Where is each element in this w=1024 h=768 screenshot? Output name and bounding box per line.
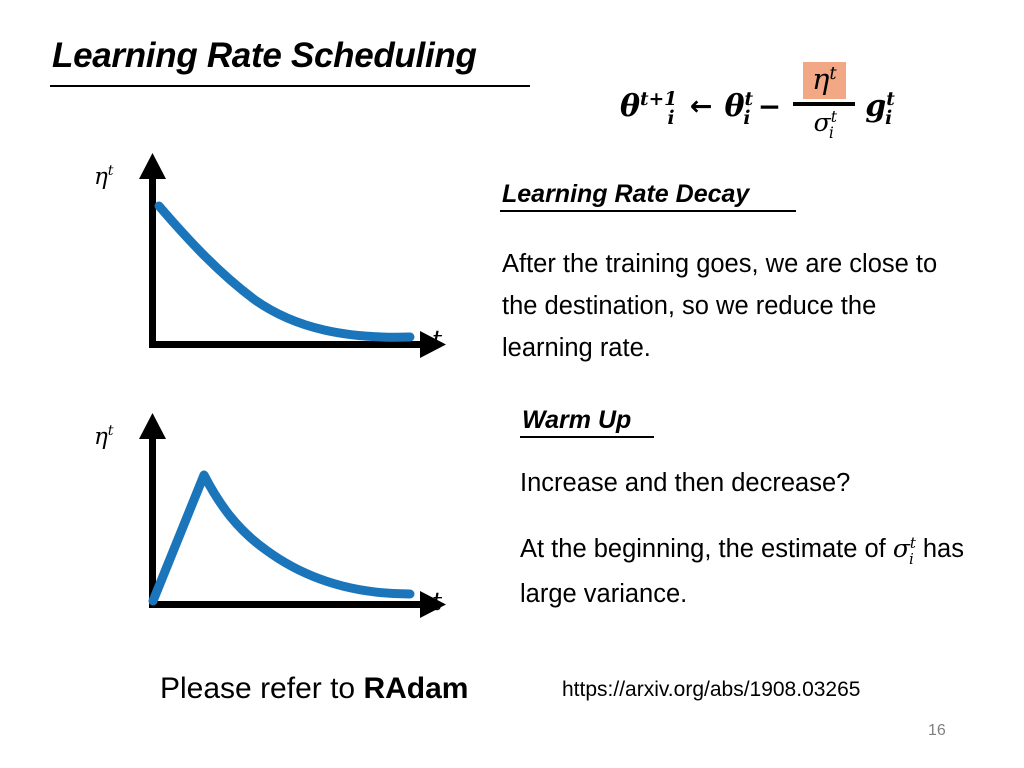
decay-y-label-superscript: t bbox=[108, 163, 114, 179]
minus-sign: − bbox=[758, 90, 781, 123]
radam-reference-text: Please refer to RAdam bbox=[160, 672, 468, 706]
update-rule-formula: θt+1i ← θti − ηt σti gti bbox=[620, 28, 1000, 143]
refer-prefix: Please refer to bbox=[160, 672, 363, 705]
formula-row: θt+1i ← θti − ηt σti gti bbox=[620, 80, 894, 133]
decay-y-label-base: η bbox=[94, 164, 108, 190]
y-axis bbox=[139, 153, 166, 346]
warmup-y-axis-label: ηt bbox=[94, 424, 114, 450]
eta-base: η bbox=[812, 62, 829, 96]
decay-curve bbox=[159, 206, 410, 337]
section-body-warm-up-variance: At the beginning, the estimate of σti ha… bbox=[520, 528, 970, 615]
left-arrow-icon: ← bbox=[690, 91, 713, 122]
page-title: Learning Rate Scheduling bbox=[52, 36, 477, 76]
gradient-subscript: i bbox=[885, 108, 892, 129]
theta-next-base: θ bbox=[620, 89, 640, 124]
theta-current-subscript: i bbox=[743, 108, 750, 129]
radam-paper-url[interactable]: https://arxiv.org/abs/1908.03265 bbox=[562, 678, 860, 702]
section-heading-warm-up: Warm Up bbox=[522, 406, 631, 435]
learning-rate-fraction: ηt σti bbox=[793, 82, 855, 135]
theta-current-base: θ bbox=[724, 89, 744, 124]
gradient-term: gti bbox=[865, 89, 893, 124]
sigma-denominator: σti bbox=[814, 108, 835, 135]
learning-rate-decay-chart: ηt t bbox=[80, 150, 480, 380]
variance-sigma-base: σ bbox=[893, 534, 910, 563]
gradient-base: g bbox=[865, 89, 886, 124]
section-heading-warmup-underline bbox=[520, 436, 654, 438]
refer-radam-name: RAdam bbox=[363, 672, 468, 705]
warmup-x-axis-label: t bbox=[432, 587, 442, 616]
warmup-y-label-base: η bbox=[94, 424, 108, 450]
variance-sigma-subscript: i bbox=[909, 550, 914, 568]
theta-next-subscript: i bbox=[667, 108, 674, 129]
eta-highlight-box: ηt bbox=[803, 62, 846, 99]
section-body-warm-up-question: Increase and then decrease? bbox=[520, 462, 970, 504]
section-heading-learning-rate-decay: Learning Rate Decay bbox=[502, 180, 749, 209]
slide-canvas: Learning Rate Scheduling θt+1i ← θti − η… bbox=[0, 0, 1024, 768]
section-body-learning-rate-decay: After the training goes, we are close to… bbox=[502, 243, 952, 369]
fraction-bar bbox=[793, 102, 855, 106]
warmup-y-label-superscript: t bbox=[108, 423, 114, 439]
section-heading-decay-underline bbox=[500, 210, 796, 212]
decay-y-axis-label: ηt bbox=[94, 164, 114, 190]
slide-page-number: 16 bbox=[928, 722, 946, 740]
warmup-curve bbox=[153, 475, 410, 601]
theta-next-term: θt+1i bbox=[620, 89, 676, 124]
decay-x-axis-label: t bbox=[432, 325, 442, 354]
variance-text-prefix: At the beginning, the estimate of bbox=[520, 535, 893, 563]
sigma-subscript: i bbox=[829, 124, 834, 142]
title-underline bbox=[50, 85, 530, 87]
eta-superscript: t bbox=[829, 63, 836, 84]
warm-up-chart: ηt t bbox=[80, 410, 480, 640]
theta-current-term: θti bbox=[724, 89, 751, 124]
